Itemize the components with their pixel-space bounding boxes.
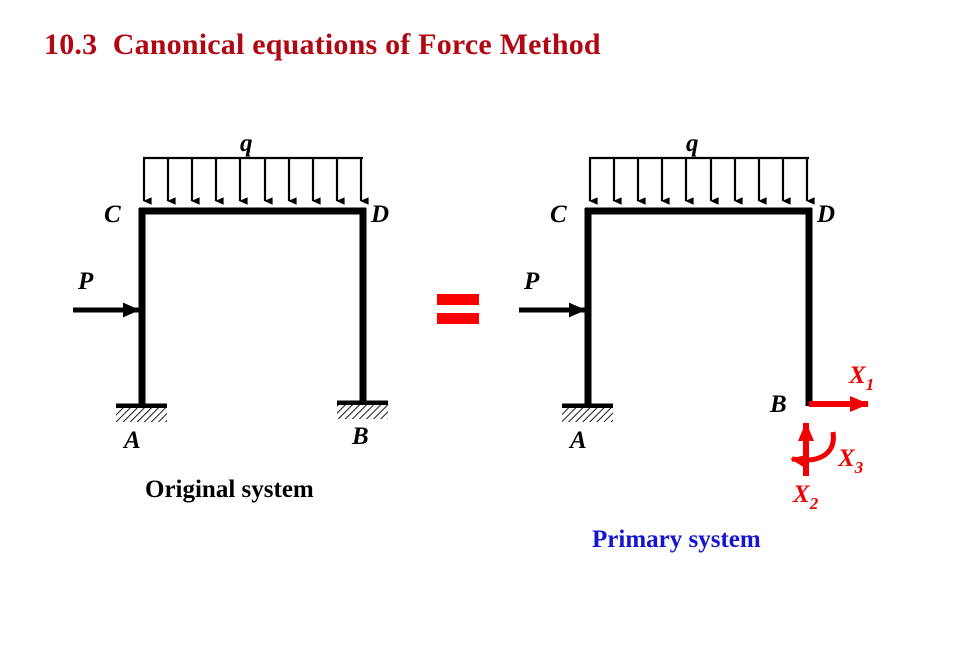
left-distributed-load: q <box>143 130 363 201</box>
node-label-C: C <box>104 201 121 228</box>
node-label-A: A <box>122 427 141 454</box>
force-method-diagram: q C D A B P <box>0 0 960 663</box>
force-label-X2: X2 <box>792 481 819 513</box>
redundant-force-X1: X1 <box>809 362 874 404</box>
equals-bar-bottom <box>437 313 479 324</box>
force-label-P: P <box>77 268 94 295</box>
load-label-q: q <box>686 130 699 157</box>
support-fixed-A <box>562 406 613 422</box>
support-fixed-A <box>116 406 167 422</box>
force-label-P: P <box>523 268 540 295</box>
right-distributed-load: q <box>589 130 809 201</box>
redundant-force-X2: X2 <box>792 423 819 513</box>
caption-primary-system: Primary system <box>592 526 761 553</box>
redundant-moment-X3: X3 <box>792 432 864 477</box>
equals-bar-top <box>437 294 479 305</box>
support-hatching <box>562 408 613 422</box>
caption-original-system: Original system <box>145 476 314 503</box>
node-label-C: C <box>550 201 567 228</box>
force-label-X1: X1 <box>848 362 874 394</box>
node-label-D: D <box>816 201 835 228</box>
moment-arc-X3 <box>792 432 833 460</box>
node-label-B: B <box>769 391 787 418</box>
left-point-load-P: P <box>73 268 139 310</box>
slide-canvas: 10.3 Canonical equations of Force Method <box>0 0 960 663</box>
support-hatching <box>116 408 167 422</box>
support-fixed-B <box>337 403 388 419</box>
force-label-X3: X3 <box>837 445 864 477</box>
left-frame-group: q C D A B P <box>73 130 389 503</box>
support-hatching <box>337 405 388 419</box>
load-label-q: q <box>240 130 253 157</box>
node-label-D: D <box>370 201 389 228</box>
equals-sign <box>437 294 479 324</box>
right-point-load-P: P <box>519 268 585 310</box>
right-frame-group: q C D A B P X1 <box>519 130 874 553</box>
node-label-B: B <box>351 423 369 450</box>
node-label-A: A <box>568 427 587 454</box>
